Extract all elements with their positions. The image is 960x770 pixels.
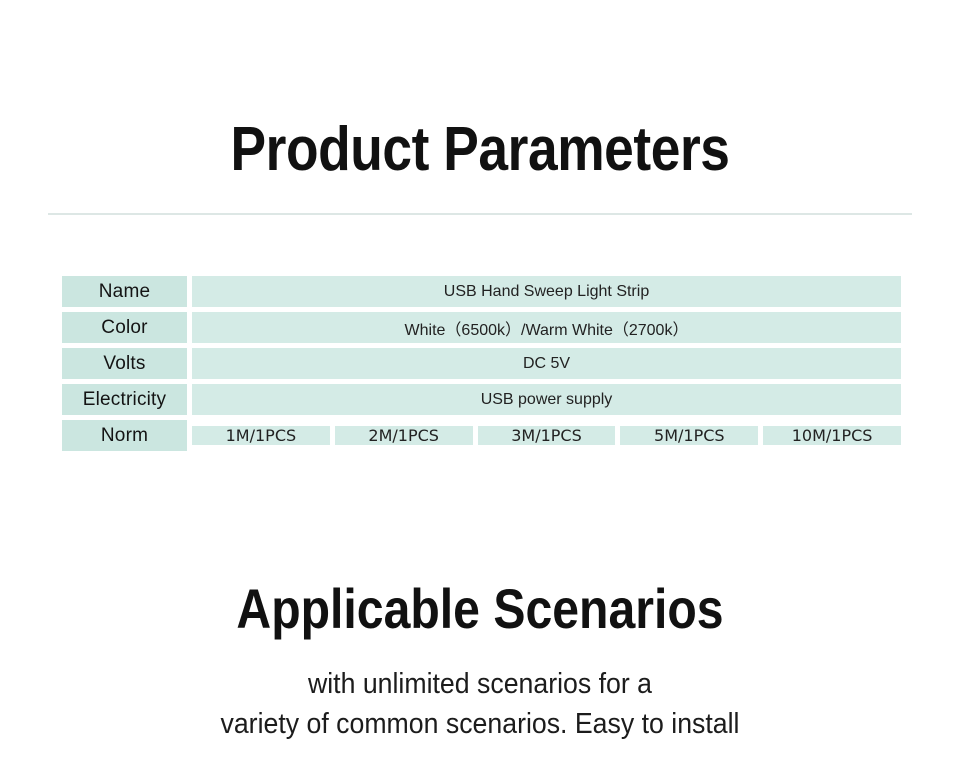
- param-label-volts: Volts: [62, 348, 187, 379]
- param-value-name: USB Hand Sweep Light Strip: [192, 276, 901, 307]
- norm-option[interactable]: 5M/1PCS: [620, 426, 758, 445]
- table-row: Name USB Hand Sweep Light Strip: [62, 276, 901, 307]
- param-label-name: Name: [62, 276, 187, 307]
- page-title: Product Parameters: [67, 112, 893, 188]
- norm-options: 1M/1PCS 2M/1PCS 3M/1PCS 5M/1PCS 10M/1PCS: [187, 420, 901, 451]
- norm-option[interactable]: 2M/1PCS: [335, 426, 473, 445]
- norm-option[interactable]: 3M/1PCS: [478, 426, 616, 445]
- norm-option[interactable]: 1M/1PCS: [192, 426, 330, 445]
- scenarios-subtitle-line2: variety of common scenarios. Easy to ins…: [38, 704, 921, 744]
- param-label-electricity: Electricity: [62, 384, 187, 415]
- table-row: Color White（6500k）/Warm White（2700k）: [62, 312, 901, 343]
- product-parameters-table: Name USB Hand Sweep Light Strip Color Wh…: [62, 276, 901, 451]
- param-label-color: Color: [62, 312, 187, 343]
- title-divider: [48, 213, 912, 215]
- scenarios-subtitle: with unlimited scenarios for a variety o…: [38, 664, 921, 744]
- param-value-volts: DC 5V: [192, 348, 901, 379]
- scenarios-title: Applicable Scenarios: [67, 574, 893, 644]
- scenarios-subtitle-line1: with unlimited scenarios for a: [38, 664, 921, 704]
- table-row: Electricity USB power supply: [62, 384, 901, 415]
- param-value-electricity: USB power supply: [192, 384, 901, 415]
- norm-option[interactable]: 10M/1PCS: [763, 426, 901, 445]
- table-row: Volts DC 5V: [62, 348, 901, 379]
- param-value-color: White（6500k）/Warm White（2700k）: [192, 312, 901, 343]
- param-label-norm: Norm: [62, 420, 187, 451]
- table-row-norm: Norm 1M/1PCS 2M/1PCS 3M/1PCS 5M/1PCS 10M…: [62, 420, 901, 451]
